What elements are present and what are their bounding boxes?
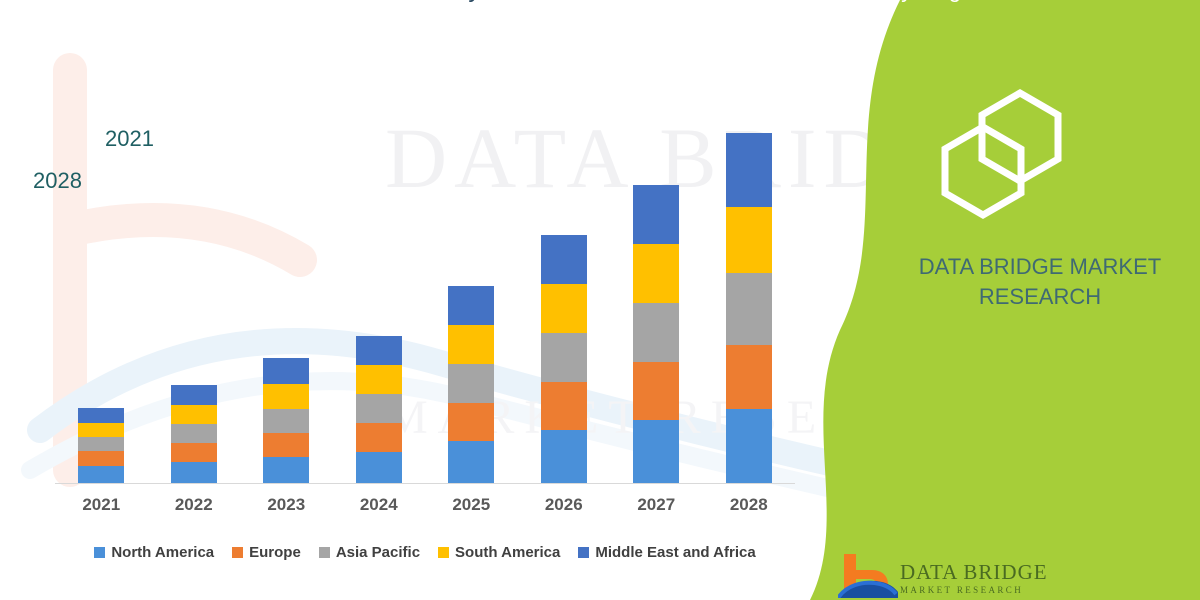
x-axis-line <box>55 483 795 484</box>
bar-segment[interactable] <box>356 336 402 365</box>
brand-name: DATA BRIDGE MARKET RESEARCH <box>880 252 1200 312</box>
bar-column[interactable] <box>519 60 609 483</box>
bar-stack[interactable] <box>356 336 402 483</box>
bar-stack[interactable] <box>726 133 772 483</box>
bar-segment[interactable] <box>726 273 772 345</box>
bar-segment[interactable] <box>633 420 679 483</box>
bar-stack[interactable] <box>541 235 587 483</box>
x-tick-label: 2021 <box>56 495 146 515</box>
bar-segment[interactable] <box>263 409 309 433</box>
bar-segment[interactable] <box>356 423 402 452</box>
logo-name: DATA BRIDGE <box>900 560 1048 585</box>
bar-segment[interactable] <box>78 408 124 423</box>
bar-segment[interactable] <box>78 451 124 466</box>
bar-segment[interactable] <box>356 394 402 423</box>
bar-segment[interactable] <box>541 284 587 333</box>
legend-label: Europe <box>249 544 301 561</box>
data-bridge-logo: DATA BRIDGE MARKET RESEARCH <box>838 552 1078 600</box>
bar-column[interactable] <box>704 60 794 483</box>
bar-stack[interactable] <box>633 185 679 483</box>
x-tick-label: 2028 <box>704 495 794 515</box>
x-tick-label: 2022 <box>149 495 239 515</box>
brand-line-2: RESEARCH <box>979 284 1101 309</box>
bar-segment[interactable] <box>448 325 494 364</box>
bar-segment[interactable] <box>263 433 309 457</box>
brand-line-1: DATA BRIDGE MARKET <box>919 254 1161 279</box>
x-tick-label: 2027 <box>611 495 701 515</box>
bar-group <box>55 60 795 483</box>
logo-tagline: MARKET RESEARCH <box>900 585 1023 595</box>
bar-segment[interactable] <box>171 424 217 443</box>
chart-legend: North AmericaEuropeAsia PacificSouth Ame… <box>55 540 795 564</box>
legend-swatch-icon <box>438 547 449 558</box>
legend-item[interactable]: Middle East and Africa <box>578 544 755 561</box>
bar-segment[interactable] <box>541 382 587 430</box>
legend-swatch-icon <box>94 547 105 558</box>
bar-segment[interactable] <box>726 133 772 207</box>
bar-column[interactable] <box>334 60 424 483</box>
legend-item[interactable]: Europe <box>232 544 301 561</box>
bar-segment[interactable] <box>171 405 217 424</box>
x-tick-label: 2025 <box>426 495 516 515</box>
x-tick-label: 2026 <box>519 495 609 515</box>
chart-plot-area: 20212022202320242025202620272028 North A… <box>0 0 820 600</box>
bar-segment[interactable] <box>78 437 124 451</box>
legend-label: South America <box>455 544 560 561</box>
legend-label: Middle East and Africa <box>595 544 755 561</box>
bar-stack[interactable] <box>171 385 217 483</box>
bar-segment[interactable] <box>726 409 772 483</box>
legend-swatch-icon <box>319 547 330 558</box>
bar-segment[interactable] <box>726 207 772 273</box>
x-tick-label: 2023 <box>241 495 331 515</box>
bar-segment[interactable] <box>78 466 124 483</box>
bar-segment[interactable] <box>171 462 217 483</box>
bar-column[interactable] <box>241 60 331 483</box>
bar-segment[interactable] <box>263 358 309 384</box>
bar-segment[interactable] <box>541 333 587 382</box>
bar-segment[interactable] <box>263 457 309 483</box>
legend-label: North America <box>111 544 214 561</box>
legend-label: Asia Pacific <box>336 544 420 561</box>
bar-segment[interactable] <box>171 385 217 405</box>
legend-swatch-icon <box>232 547 243 558</box>
bar-segment[interactable] <box>356 365 402 394</box>
bar-segment[interactable] <box>448 286 494 325</box>
chart-infographic: DATA BRIDGE MARKET RESEARCH 2021 2028 US… <box>0 0 1200 600</box>
panel-title: By Regions, 2021 o 2028 <box>845 0 1185 5</box>
legend-item[interactable]: South America <box>438 544 560 561</box>
bar-segment[interactable] <box>726 345 772 409</box>
bar-column[interactable] <box>149 60 239 483</box>
bar-segment[interactable] <box>448 403 494 441</box>
bar-stack[interactable] <box>263 358 309 483</box>
legend-item[interactable]: Asia Pacific <box>319 544 420 561</box>
logo-mark-icon <box>838 552 898 598</box>
bar-segment[interactable] <box>633 362 679 420</box>
bar-segment[interactable] <box>633 303 679 362</box>
legend-swatch-icon <box>578 547 589 558</box>
hexagon-pair-decoration <box>925 85 1125 220</box>
bar-segment[interactable] <box>448 364 494 403</box>
bar-segment[interactable] <box>633 244 679 303</box>
bar-segment[interactable] <box>356 452 402 483</box>
x-axis-tick-labels: 20212022202320242025202620272028 <box>55 495 795 523</box>
bar-segment[interactable] <box>171 443 217 462</box>
bar-segment[interactable] <box>541 430 587 483</box>
bar-segment[interactable] <box>263 384 309 409</box>
bar-column[interactable] <box>611 60 701 483</box>
bar-segment[interactable] <box>633 185 679 244</box>
bar-segment[interactable] <box>448 441 494 483</box>
x-tick-label: 2024 <box>334 495 424 515</box>
bar-stack[interactable] <box>78 408 124 483</box>
legend-item[interactable]: North America <box>94 544 214 561</box>
bar-column[interactable] <box>426 60 516 483</box>
bar-segment[interactable] <box>78 423 124 437</box>
bar-segment[interactable] <box>541 235 587 284</box>
bar-column[interactable] <box>56 60 146 483</box>
bar-stack[interactable] <box>448 286 494 483</box>
